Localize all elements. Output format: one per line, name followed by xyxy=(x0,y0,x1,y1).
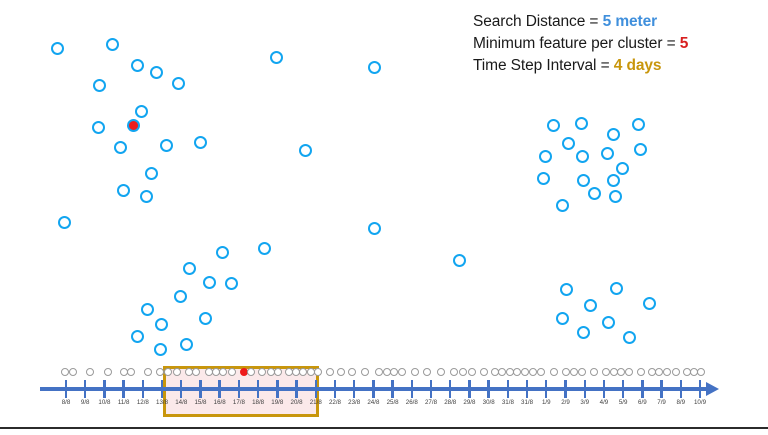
timeline-tick-label: 31/8 xyxy=(521,399,533,406)
timeline-tick xyxy=(660,380,662,398)
timeline-tick-label: 14/8 xyxy=(175,399,187,406)
timeline-tick-label: 21/8 xyxy=(310,399,322,406)
timeline-tick xyxy=(315,380,317,398)
timeline-tick xyxy=(603,380,605,398)
timeline-tick xyxy=(65,380,67,398)
timeline-dot xyxy=(637,368,645,376)
timeline-dot xyxy=(513,368,521,376)
timeline-dot xyxy=(550,368,558,376)
legend-value-time-step: 4 days xyxy=(614,57,662,74)
timeline-tick xyxy=(468,380,470,398)
scatter-point xyxy=(560,283,573,296)
timeline-tick-label: 15/8 xyxy=(194,399,206,406)
scatter-point xyxy=(203,276,216,289)
timeline-tick xyxy=(372,380,374,398)
timeline-tick-label: 20/8 xyxy=(291,399,303,406)
timeline-dot xyxy=(156,368,164,376)
scatter-point xyxy=(106,38,119,51)
timeline-tick xyxy=(295,380,297,398)
timeline-dot xyxy=(314,368,322,376)
timeline-tick-label: 1/9 xyxy=(542,399,551,406)
timeline-dot xyxy=(663,368,671,376)
timeline-dot xyxy=(192,368,200,376)
timeline-dot xyxy=(590,368,598,376)
scatter-point xyxy=(607,174,620,187)
timeline-dot xyxy=(299,368,307,376)
timeline-dot xyxy=(411,368,419,376)
timeline-tick-label: 17/8 xyxy=(233,399,245,406)
legend-label-search-distance: Search Distance = xyxy=(473,13,603,30)
timeline-dot xyxy=(86,368,94,376)
timeline-dot xyxy=(562,368,570,376)
timeline-tick xyxy=(526,380,528,398)
timeline-dot xyxy=(274,368,282,376)
timeline-dot xyxy=(578,368,586,376)
timeline-axis: 8/89/810/811/812/813/814/815/816/817/818… xyxy=(0,355,768,425)
scatter-point xyxy=(258,242,271,255)
scatter-point xyxy=(135,105,148,118)
timeline-dot xyxy=(423,368,431,376)
scatter-point xyxy=(93,79,106,92)
scatter-point xyxy=(576,150,589,163)
timeline-tick xyxy=(430,380,432,398)
timeline-tick-label: 11/8 xyxy=(118,399,130,406)
timeline-dot xyxy=(348,368,356,376)
timeline-tick xyxy=(449,380,451,398)
scatter-point xyxy=(577,326,590,339)
timeline-tick xyxy=(622,380,624,398)
timeline-tick xyxy=(564,380,566,398)
timeline-dot xyxy=(672,368,680,376)
legend-row-time-step: Time Step Interval = 4 days xyxy=(473,55,688,77)
scatter-point xyxy=(140,190,153,203)
scatter-point xyxy=(174,290,187,303)
scatter-point xyxy=(58,216,71,229)
timeline-tick xyxy=(238,380,240,398)
scatter-point xyxy=(180,338,193,351)
timeline-tick xyxy=(257,380,259,398)
legend-label-time-step: Time Step Interval = xyxy=(473,57,614,74)
timeline-tick-label: 22/8 xyxy=(329,399,341,406)
timeline-dot xyxy=(258,368,266,376)
timeline-tick xyxy=(199,380,201,398)
scatter-point-highlight xyxy=(127,119,140,132)
timeline-tick-label: 19/8 xyxy=(271,399,283,406)
timeline-tick-label: 4/9 xyxy=(600,399,609,406)
scatter-point xyxy=(117,184,130,197)
timeline-tick-label: 25/8 xyxy=(387,399,399,406)
timeline-tick xyxy=(584,380,586,398)
timeline-dot xyxy=(468,368,476,376)
timeline-tick-label: 28/8 xyxy=(444,399,456,406)
timeline-tick xyxy=(103,380,105,398)
legend-value-search-distance: 5 meter xyxy=(603,13,657,30)
timeline-dot xyxy=(61,368,69,376)
timeline-tick-label: 10/9 xyxy=(694,399,706,406)
timeline-tick-label: 2/9 xyxy=(561,399,570,406)
scatter-point xyxy=(299,144,312,157)
scatter-point xyxy=(556,312,569,325)
timeline-tick-label: 6/9 xyxy=(638,399,647,406)
scatter-point xyxy=(588,187,601,200)
timeline-tick xyxy=(641,380,643,398)
timeline-dot xyxy=(337,368,345,376)
timeline-dot xyxy=(127,368,135,376)
timeline-dot xyxy=(247,368,255,376)
scatter-point xyxy=(183,262,196,275)
timeline-arrow-icon xyxy=(706,382,719,396)
timeline-tick-label: 26/8 xyxy=(406,399,418,406)
legend-row-min-feature: Minimum feature per cluster = 5 xyxy=(473,33,688,55)
timeline-dot xyxy=(228,368,236,376)
timeline-tick-label: 27/8 xyxy=(425,399,437,406)
scatter-point xyxy=(199,312,212,325)
scatter-point xyxy=(562,137,575,150)
timeline-dot xyxy=(625,368,633,376)
scatter-point xyxy=(547,119,560,132)
scatter-point xyxy=(643,297,656,310)
timeline-dot xyxy=(570,368,578,376)
timeline-tick xyxy=(507,380,509,398)
timeline-dot xyxy=(521,368,529,376)
timeline-tick-label: 24/8 xyxy=(367,399,379,406)
timeline-tick xyxy=(353,380,355,398)
timeline-tick xyxy=(161,380,163,398)
scatter-point xyxy=(575,117,588,130)
timeline-dot xyxy=(375,368,383,376)
timeline-dot xyxy=(104,368,112,376)
scatter-point xyxy=(453,254,466,267)
timeline-tick xyxy=(487,380,489,398)
scatter-point xyxy=(584,299,597,312)
timeline-tick-label: 7/9 xyxy=(657,399,666,406)
timeline-dot xyxy=(144,368,152,376)
scatter-point xyxy=(577,174,590,187)
timeline-tick-label: 16/8 xyxy=(214,399,226,406)
timeline-dot xyxy=(459,368,467,376)
timeline-tick xyxy=(122,380,124,398)
scatter-point xyxy=(114,141,127,154)
timeline-dot xyxy=(697,368,705,376)
timeline-dot xyxy=(398,368,406,376)
scatter-point xyxy=(216,246,229,259)
scatter-point xyxy=(616,162,629,175)
timeline-tick xyxy=(545,380,547,398)
timeline-dot xyxy=(617,368,625,376)
scatter-point xyxy=(194,136,207,149)
timeline-dot xyxy=(655,368,663,376)
timeline-tick-label: 12/8 xyxy=(137,399,149,406)
timeline-dot xyxy=(361,368,369,376)
scatter-point xyxy=(172,77,185,90)
slide-canvas: Search Distance = 5 meter Minimum featur… xyxy=(0,0,768,435)
timeline-tick xyxy=(180,380,182,398)
scatter-point xyxy=(601,147,614,160)
timeline-tick-label: 18/8 xyxy=(252,399,264,406)
legend-row-search-distance: Search Distance = 5 meter xyxy=(473,11,688,33)
scatter-point xyxy=(368,61,381,74)
scatter-point xyxy=(131,330,144,343)
scatter-point xyxy=(609,190,622,203)
scatter-point xyxy=(51,42,64,55)
scatter-point xyxy=(141,303,154,316)
timeline-tick-label: 13/8 xyxy=(156,399,168,406)
timeline-tick-label: 29/8 xyxy=(463,399,475,406)
timeline-dot xyxy=(529,368,537,376)
scatter-point xyxy=(632,118,645,131)
timeline-tick xyxy=(699,380,701,398)
timeline-dot xyxy=(498,368,506,376)
timeline-dot xyxy=(450,368,458,376)
scatter-point xyxy=(154,343,167,356)
scatter-point xyxy=(145,167,158,180)
scatter-point xyxy=(537,172,550,185)
legend-label-min-feature: Minimum feature per cluster = xyxy=(473,35,680,52)
timeline-dot xyxy=(164,368,172,376)
scatter-point xyxy=(556,199,569,212)
timeline-dot xyxy=(480,368,488,376)
timeline-tick xyxy=(334,380,336,398)
timeline-tick-label: 10/8 xyxy=(98,399,110,406)
parameters-legend: Search Distance = 5 meter Minimum featur… xyxy=(473,11,688,77)
timeline-tick-label: 5/9 xyxy=(619,399,628,406)
timeline-tick-label: 31/8 xyxy=(502,399,514,406)
scatter-point xyxy=(610,282,623,295)
timeline-dot xyxy=(173,368,181,376)
scatter-point xyxy=(607,128,620,141)
legend-value-min-feature: 5 xyxy=(680,35,689,52)
timeline-tick xyxy=(142,380,144,398)
timeline-dot xyxy=(219,368,227,376)
timeline-tick-label: 23/8 xyxy=(348,399,360,406)
scatter-point xyxy=(623,331,636,344)
scatter-point xyxy=(539,150,552,163)
timeline-tick-label: 9/8 xyxy=(81,399,90,406)
scatter-point xyxy=(150,66,163,79)
scatter-point xyxy=(92,121,105,134)
timeline-tick-label: 3/9 xyxy=(580,399,589,406)
scatter-point xyxy=(602,316,615,329)
timeline-tick xyxy=(84,380,86,398)
timeline-tick xyxy=(218,380,220,398)
timeline-tick xyxy=(276,380,278,398)
scatter-point xyxy=(270,51,283,64)
scatter-point xyxy=(225,277,238,290)
timeline-tick xyxy=(411,380,413,398)
scatter-point xyxy=(155,318,168,331)
scatter-point xyxy=(131,59,144,72)
scatter-point xyxy=(160,139,173,152)
timeline-dot xyxy=(390,368,398,376)
scatter-point xyxy=(368,222,381,235)
timeline-tick xyxy=(391,380,393,398)
timeline-dot xyxy=(69,368,77,376)
timeline-tick-label: 8/8 xyxy=(62,399,71,406)
timeline-tick-label: 8/9 xyxy=(676,399,685,406)
timeline-dot xyxy=(537,368,545,376)
scatter-point xyxy=(634,143,647,156)
slide-bottom-rule xyxy=(0,427,768,429)
timeline-tick xyxy=(680,380,682,398)
timeline-dot xyxy=(326,368,334,376)
timeline-dot xyxy=(437,368,445,376)
timeline-tick-label: 30/8 xyxy=(483,399,495,406)
timeline-dot xyxy=(602,368,610,376)
